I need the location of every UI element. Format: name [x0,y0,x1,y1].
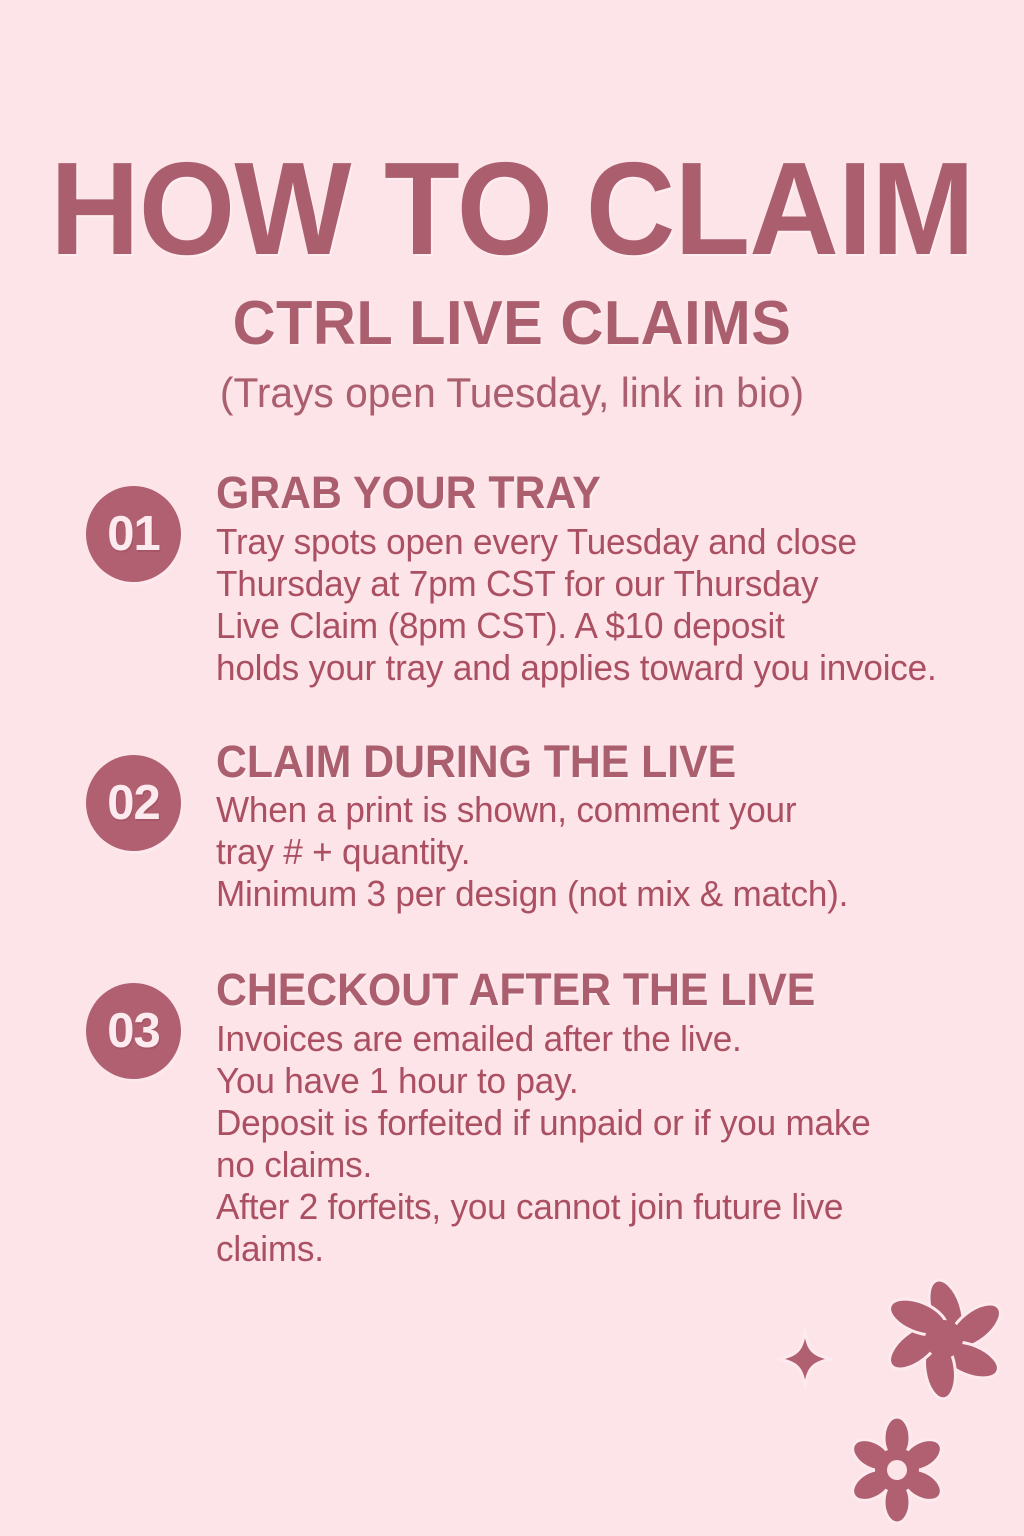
step-body-02: When a print is shown, comment your tray… [216,789,980,915]
step-body-03: Invoices are emailed after the live. You… [216,1018,980,1270]
step-body-line: When a print is shown, comment your [216,789,980,831]
step-body-line: You have 1 hour to pay. [216,1060,980,1102]
flower-six-petal-icon [882,1276,1008,1401]
step-body-line: claims. [216,1228,980,1270]
step-body-line: Deposit is forfeited if unpaid or if you… [216,1102,980,1144]
step-number-badge-01: 01 [86,486,181,582]
step-body-line: tray # + quantity. [216,831,980,873]
step-item-01: 01 GRAB YOUR TRAY Tray spots open every … [0,470,1024,689]
sparkle-four-point-icon [778,1330,832,1388]
step-body-line: Thursday at 7pm CST for our Thursday [216,563,980,605]
step-title-03: CHECKOUT AFTER THE LIVE [216,967,961,1014]
page-title: HOW TO CLAIM [31,0,994,275]
step-number-badge-02: 02 [86,755,181,851]
page-subtitle-note: (Trays open Tuesday, link in bio) [15,372,1008,414]
steps-list: 01 GRAB YOUR TRAY Tray spots open every … [0,470,1024,1270]
step-item-02: 02 CLAIM DURING THE LIVE When a print is… [0,739,1024,916]
step-body-line: no claims. [216,1144,980,1186]
step-body-line: Invoices are emailed after the live. [216,1018,980,1060]
step-body-line: Minimum 3 per design (not mix & match). [216,873,980,915]
step-item-03: 03 CHECKOUT AFTER THE LIVE Invoices are … [0,967,1024,1269]
page-subtitle: CTRL LIVE CLAIMS [20,293,1003,355]
decorative-flourish-group [764,1276,1024,1536]
step-body-line: After 2 forfeits, you cannot join future… [216,1186,980,1228]
step-title-01: GRAB YOUR TRAY [216,470,961,517]
step-number-badge-03: 03 [86,983,181,1079]
step-body-line: holds your tray and applies toward you i… [216,647,980,689]
flower-six-petal-center-hole-icon [847,1417,946,1523]
step-title-02: CLAIM DURING THE LIVE [216,739,961,786]
poster-header: HOW TO CLAIM CTRL LIVE CLAIMS (Trays ope… [0,0,1024,414]
step-body-line: Live Claim (8pm CST). A $10 deposit [216,605,980,647]
poster-canvas: HOW TO CLAIM CTRL LIVE CLAIMS (Trays ope… [0,0,1024,1536]
step-body-01: Tray spots open every Tuesday and close … [216,521,980,689]
step-body-line: Tray spots open every Tuesday and close [216,521,980,563]
